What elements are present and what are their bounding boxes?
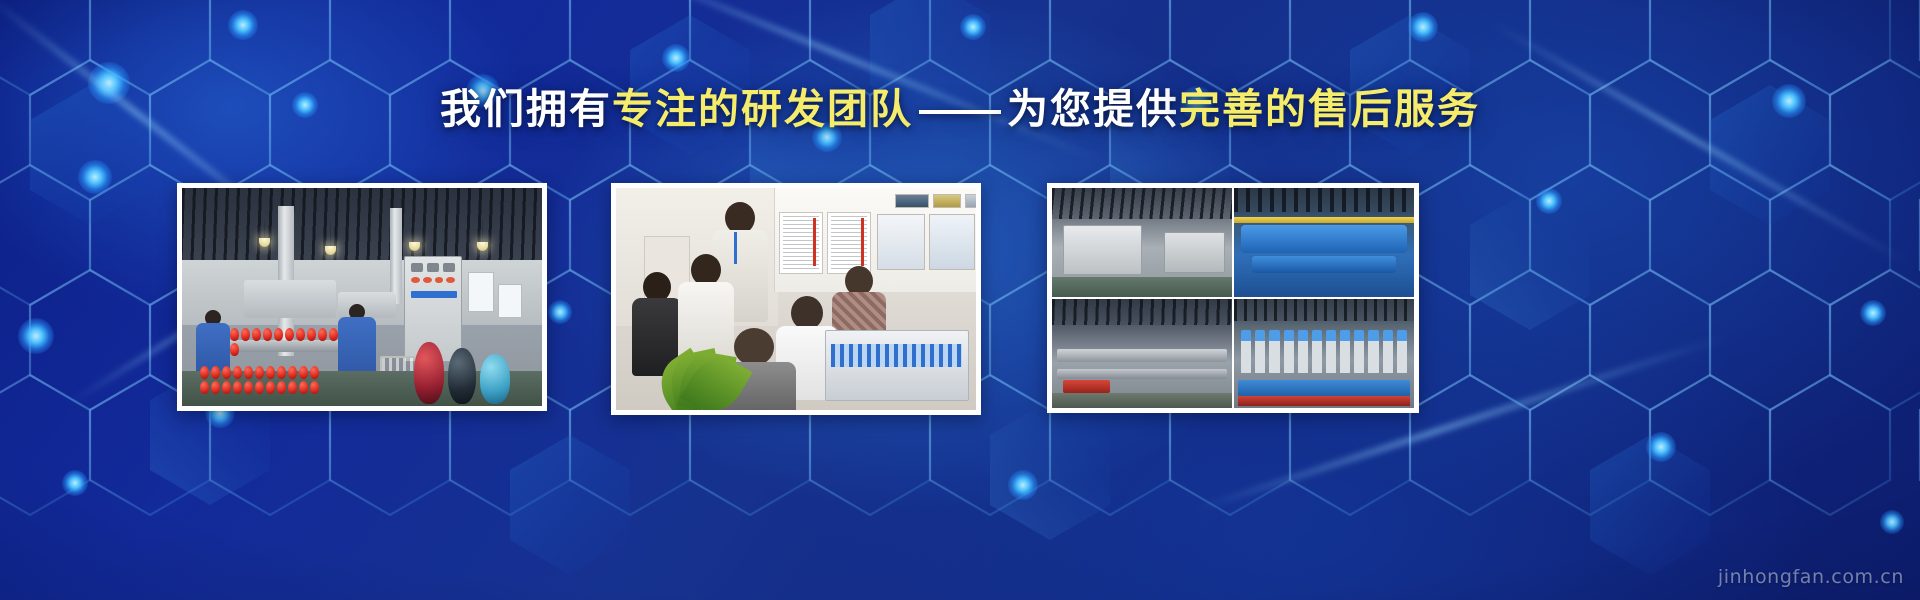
blue-conveyor bbox=[1252, 256, 1396, 273]
oven-section bbox=[1164, 232, 1225, 273]
collage-cell-drying-oven bbox=[1052, 188, 1232, 297]
equipment-rails bbox=[831, 344, 962, 367]
board-document bbox=[779, 212, 823, 274]
glow-node bbox=[662, 44, 690, 72]
site-watermark: jinhongfan.com.cn bbox=[1718, 566, 1904, 588]
conveyor-rail bbox=[1057, 369, 1226, 379]
panel-indicators bbox=[411, 277, 455, 283]
photo-1-inner bbox=[182, 188, 542, 406]
foreground-plant bbox=[623, 352, 731, 410]
roof-beams bbox=[1234, 188, 1414, 212]
red-products-pile bbox=[200, 366, 320, 406]
roof-beams bbox=[1234, 299, 1414, 321]
product-sample-red bbox=[414, 342, 444, 404]
glow-node bbox=[1646, 432, 1676, 462]
person-head bbox=[791, 296, 823, 330]
conveyor-rail bbox=[1057, 349, 1226, 362]
equipment-inset bbox=[825, 330, 969, 401]
red-machine-part bbox=[1063, 380, 1110, 393]
collage-cell-blue-duct-line bbox=[1234, 188, 1414, 297]
exhaust-duct bbox=[244, 280, 336, 318]
person-head bbox=[734, 328, 774, 366]
headline-segment-1: 我们拥有 bbox=[440, 86, 612, 132]
lamp-wire bbox=[414, 222, 415, 244]
yellow-pipe bbox=[1234, 217, 1414, 222]
page-title: 我们拥有专注的研发团队——为您提供完善的售后服务 bbox=[0, 84, 1920, 135]
photo-equipment-collage[interactable] bbox=[1047, 183, 1419, 413]
lanyard-strap bbox=[734, 232, 737, 264]
roof-beams bbox=[1052, 299, 1232, 325]
light-streak bbox=[618, 0, 1102, 163]
lamp-wire bbox=[330, 222, 331, 248]
glow-node bbox=[62, 470, 88, 496]
promo-banner: 我们拥有专注的研发团队——为您提供完善的售后服务 bbox=[0, 0, 1920, 600]
collage-cell-conveyor-line bbox=[1052, 299, 1232, 408]
glow-node bbox=[1880, 510, 1904, 534]
factory-line-illustration bbox=[182, 188, 542, 406]
headline-segment-2: 专注的研发团队 bbox=[612, 86, 913, 132]
glow-node bbox=[228, 10, 258, 40]
blue-tunnel-oven bbox=[1241, 225, 1407, 253]
wall-document bbox=[498, 284, 522, 318]
board-document bbox=[827, 212, 871, 274]
workshop-floor bbox=[1052, 393, 1232, 408]
board-photo bbox=[965, 194, 976, 208]
headline-segment-5: 完善的售后服务 bbox=[1179, 86, 1480, 132]
headline-em-dash: —— bbox=[913, 86, 1007, 132]
collage-cell-coating-jigs bbox=[1234, 299, 1414, 408]
headline-segment-4: 为您提供 bbox=[1007, 86, 1179, 132]
board-diagram bbox=[929, 214, 975, 270]
glow-node bbox=[1408, 12, 1438, 42]
red-frame-base bbox=[1238, 396, 1411, 406]
board-red-marks bbox=[861, 218, 864, 266]
workshop-floor bbox=[1052, 277, 1232, 297]
roof-trusses bbox=[1052, 188, 1232, 219]
blue-frame-base bbox=[1238, 380, 1411, 397]
lamp-wire bbox=[482, 220, 483, 244]
structural-column bbox=[390, 208, 402, 304]
board-diagram bbox=[877, 214, 925, 270]
collage-grid bbox=[1052, 188, 1414, 408]
panel-label bbox=[411, 291, 457, 298]
photo-production-line[interactable] bbox=[177, 183, 547, 411]
board-photo bbox=[895, 194, 929, 208]
photo-2-inner bbox=[616, 188, 976, 410]
meeting-illustration bbox=[616, 188, 976, 410]
hanging-jigs bbox=[1241, 330, 1407, 374]
glow-node bbox=[1008, 470, 1038, 500]
glow-node bbox=[960, 14, 986, 40]
board-red-marks bbox=[813, 218, 816, 266]
panel-buttons bbox=[411, 263, 455, 272]
photo-gallery bbox=[0, 183, 1920, 415]
photo-3-inner bbox=[1052, 188, 1414, 408]
roof-trusses bbox=[182, 188, 542, 262]
drying-oven bbox=[1063, 225, 1142, 275]
product-sample-dark bbox=[448, 348, 476, 404]
wall-document bbox=[468, 272, 494, 312]
red-products-row bbox=[230, 328, 342, 344]
product-sample-blue bbox=[480, 354, 510, 404]
photo-team-meeting[interactable] bbox=[611, 183, 981, 415]
board-photo bbox=[933, 194, 961, 208]
